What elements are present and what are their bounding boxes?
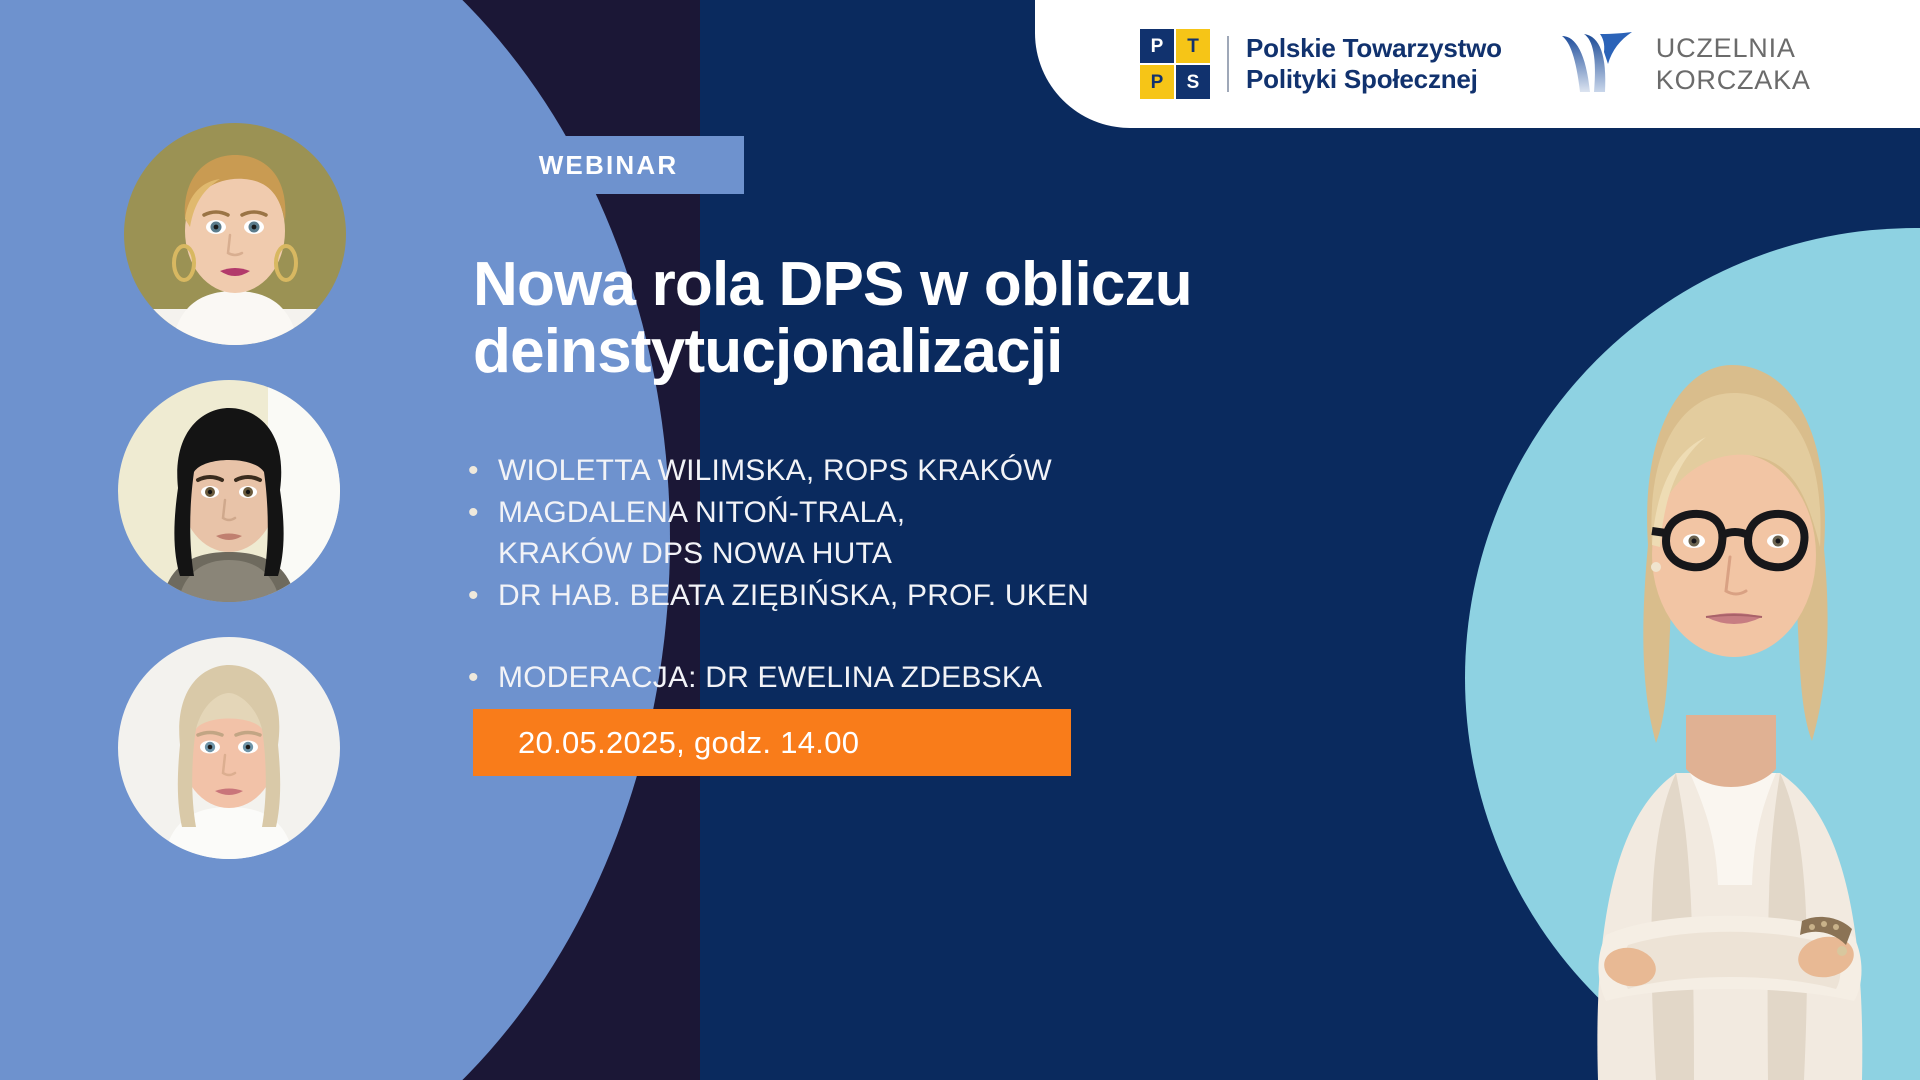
ptps-cell-p2: P [1140,65,1174,99]
speaker-list: • WIOLETTA WILIMSKA, ROPS KRAKÓW • MAGDA… [468,450,1228,699]
portrait-speaker-1 [124,123,346,345]
korczaka-w-mark-icon [1560,28,1636,100]
ptps-name-line-2: Polityki Społecznej [1246,64,1502,95]
moderator-name: MODERACJA: DR EWELINA ZDEBSKA [498,657,1042,698]
speaker-2-name: MAGDALENA NITOŃ-TRALA, KRAKÓW DPS NOWA H… [498,492,905,574]
speaker-3-name: DR HAB. BEATA ZIĘBIŃSKA, PROF. UKEN [498,575,1089,616]
uczelnia-korczaka-logo: UCZELNIA KORCZAKA [1560,28,1811,100]
webinar-badge: WEBINAR [473,136,744,194]
ptps-logo-text: Polskie Towarzystwo Polityki Społecznej [1246,33,1502,94]
bullet-icon: • [468,657,498,698]
speaker-2-line-2: KRAKÓW DPS NOWA HUTA [498,537,892,570]
speaker-2-line-1: MAGDALENA NITOŃ-TRALA, [498,496,905,529]
webinar-badge-label: WEBINAR [539,150,679,181]
page-title: Nowa rola DPS w obliczu deinstytucjonali… [473,252,1273,386]
date-banner: 20.05.2025, godz. 14.00 [473,709,1071,776]
ptps-cell-t: T [1176,29,1210,63]
list-item: • MAGDALENA NITOŃ-TRALA, KRAKÓW DPS NOWA… [468,492,1228,574]
korczaka-logo-text: UCZELNIA KORCZAKA [1656,32,1811,97]
ptps-logo: P T P S Polskie Towarzystwo Polityki Spo… [1140,29,1502,99]
portrait-speaker-3 [118,637,340,859]
list-spacer [468,617,1228,657]
webinar-poster: P T P S Polskie Towarzystwo Polityki Spo… [0,0,1920,1080]
date-banner-label: 20.05.2025, godz. 14.00 [518,725,859,761]
ptps-logo-mark: P T P S [1140,29,1210,99]
bullet-icon: • [468,575,498,616]
list-item: • WIOLETTA WILIMSKA, ROPS KRAKÓW [468,450,1228,491]
page-title-line-2: deinstytucjonalizacji [473,319,1273,386]
korczaka-name-line-2: KORCZAKA [1656,64,1811,96]
ptps-cell-s: S [1176,65,1210,99]
ptps-cell-p1: P [1140,29,1174,63]
bullet-icon: • [468,492,498,533]
ptps-logo-divider [1227,36,1229,92]
page-title-line-1: Nowa rola DPS w obliczu [473,252,1273,319]
portrait-speaker-2 [118,380,340,602]
header-logo-band: P T P S Polskie Towarzystwo Polityki Spo… [1035,0,1920,128]
ptps-name-line-1: Polskie Towarzystwo [1246,33,1502,64]
list-item: • DR HAB. BEATA ZIĘBIŃSKA, PROF. UKEN [468,575,1228,616]
featured-speaker-photo [1480,245,1920,1080]
korczaka-name-line-1: UCZELNIA [1656,32,1811,64]
list-item: • MODERACJA: DR EWELINA ZDEBSKA [468,657,1228,698]
bullet-icon: • [468,450,498,491]
speaker-1-name: WIOLETTA WILIMSKA, ROPS KRAKÓW [498,450,1052,491]
